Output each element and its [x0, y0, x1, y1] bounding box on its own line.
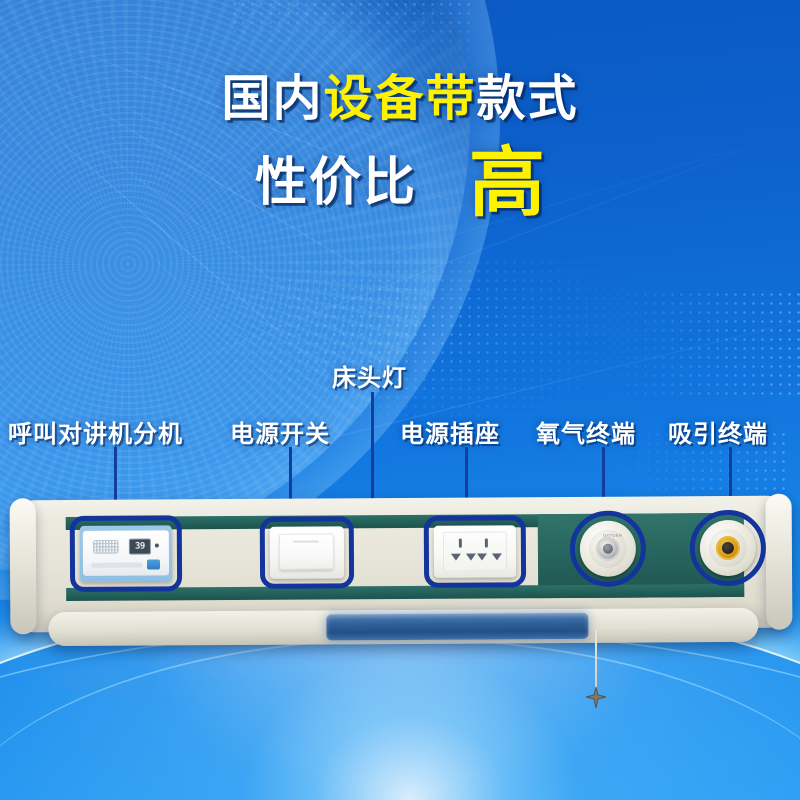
panel-end-cap-right [766, 494, 793, 630]
panel-end-cap-left [10, 498, 37, 634]
callout-layer: 呼叫对讲机分机 电源开关 床头灯 电源插座 氧气终端 吸引终端 [0, 0, 800, 800]
bed-lamp-diffuser[interactable] [326, 613, 588, 641]
callout-label-intercom: 呼叫对讲机分机 [8, 414, 183, 449]
highlight-ellipse-oxygen [570, 511, 646, 587]
pull-cord[interactable] [595, 630, 597, 694]
panel-bottom-rail [48, 608, 758, 646]
pull-cord-weight-icon[interactable] [584, 686, 608, 710]
highlight-ellipse-suction [690, 510, 766, 586]
callout-label-suction-terminal: 吸引终端 [668, 414, 768, 449]
highlight-box-intercom [70, 515, 182, 592]
poster-canvas: 国内设备带款式 性价比高 呼叫对讲机分机 电源开关 床头灯 电源插座 氧气终端 … [0, 0, 800, 800]
highlight-box-power-socket [424, 515, 526, 588]
callout-label-power-switch: 电源开关 [230, 414, 330, 449]
callout-label-bed-lamp: 床头灯 [332, 358, 407, 393]
highlight-box-power-switch [260, 516, 354, 589]
callout-label-power-socket: 电源插座 [400, 414, 500, 449]
medical-equipment-panel: 39 OXYGEN [18, 496, 785, 633]
callout-label-oxygen-terminal: 氧气终端 [536, 414, 636, 449]
